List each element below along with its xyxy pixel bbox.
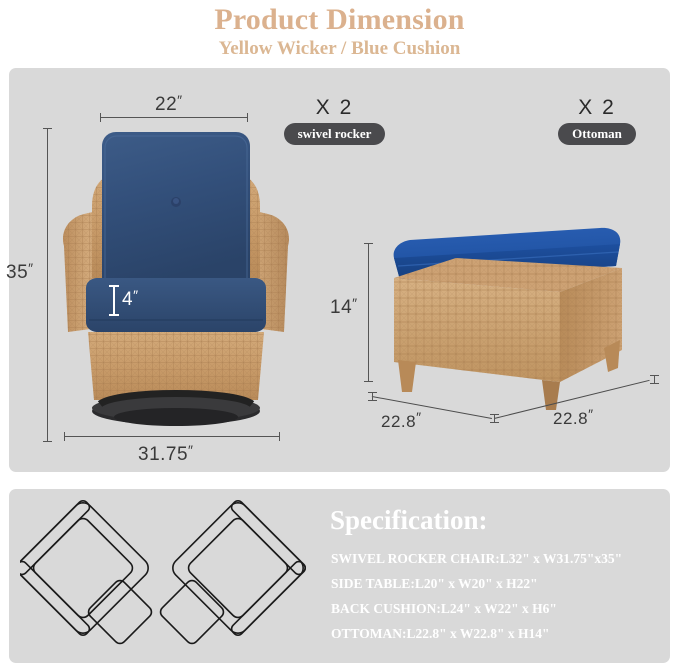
spec-line-side-table: SIDE TABLE:L20" x W20" x H22" (331, 571, 661, 596)
chair-width-line (100, 117, 248, 118)
ottoman-width-tick-right (654, 375, 655, 384)
ottoman-badge: Ottoman (558, 123, 636, 145)
swivel-rocker-qty-block: X 2 swivel rocker (268, 96, 401, 145)
specification-title: Specification: (330, 504, 487, 536)
layout-chair-left (20, 499, 152, 638)
layout-chair-right (169, 499, 308, 638)
ottoman-width-label: 22.8″ (553, 409, 593, 429)
swivel-rocker-illustration (58, 128, 294, 430)
spec-line-ottoman: OTTOMAN:L22.8" x W22.8" x H14" (331, 621, 661, 646)
page-title: Product Dimension (0, 2, 679, 38)
ottoman-height-label: 14″ (330, 297, 357, 319)
ottoman-qty: X 2 (537, 96, 657, 120)
chair-width-label: 22″ (155, 94, 182, 116)
seat-thickness-label: 4″ (122, 289, 138, 311)
layout-ottoman-left (86, 578, 154, 646)
layout-ottoman-right (158, 578, 226, 646)
spec-line-swivel-rocker: SWIVEL ROCKER CHAIR:L32" x W31.75"x35" (331, 546, 661, 571)
top-view-layout-diagram (20, 495, 320, 655)
chair-height-label: 35″ (6, 262, 33, 284)
page-subtitle: Yellow Wicker / Blue Cushion (0, 38, 679, 60)
ottoman-qty-block: X 2 Ottoman (537, 96, 657, 145)
ottoman-depth-label: 22.8″ (381, 412, 421, 432)
ottoman-depth-tick-left (372, 392, 373, 401)
swivel-rocker-qty: X 2 (268, 96, 401, 120)
ottoman-corner-tick (494, 414, 495, 423)
header: Product Dimension Yellow Wicker / Blue C… (0, 0, 679, 64)
specification-list: SWIVEL ROCKER CHAIR:L32" x W31.75"x35" S… (331, 546, 661, 646)
chair-base-width-label: 31.75″ (138, 444, 193, 466)
ottoman-height-line (368, 243, 369, 382)
chair-height-line (47, 128, 48, 442)
chair-base-width-line (64, 436, 280, 437)
product-dimension-infographic: Product Dimension Yellow Wicker / Blue C… (0, 0, 679, 672)
seat-thickness-line (113, 285, 115, 316)
ottoman-illustration (372, 222, 640, 414)
spec-line-back-cushion: BACK CUSHION:L24" x W22" x H6" (331, 596, 661, 621)
swivel-rocker-badge: swivel rocker (284, 123, 386, 145)
